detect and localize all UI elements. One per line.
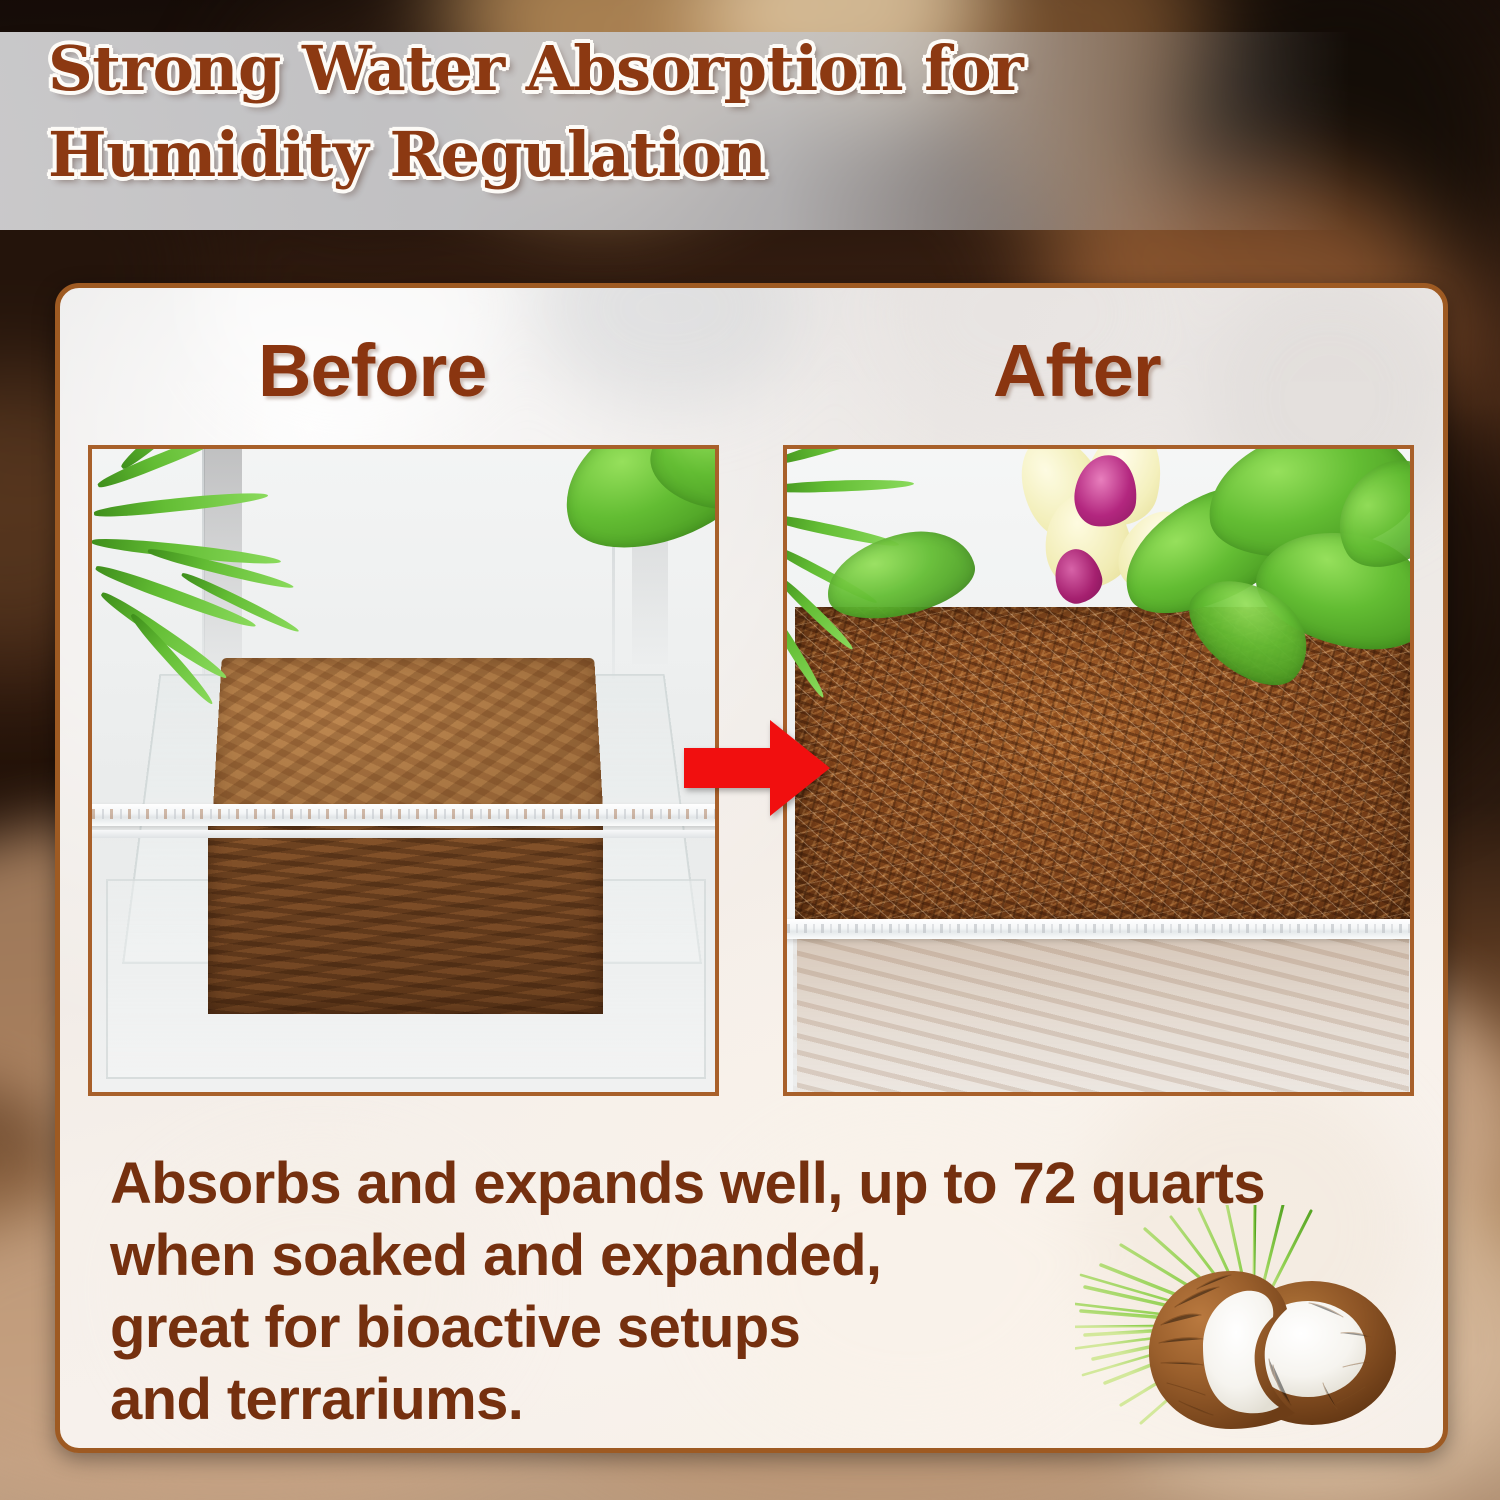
- page-title: Strong Water Absorption for Humidity Reg…: [48, 26, 1388, 198]
- title-banner: Strong Water Absorption for Humidity Reg…: [0, 32, 1500, 230]
- right-arrow-icon: [684, 718, 830, 818]
- before-photo: [88, 445, 719, 1096]
- after-photo: [783, 445, 1414, 1096]
- before-label: Before: [258, 334, 486, 408]
- after-label: After: [993, 334, 1161, 408]
- coconut-icon: [1075, 1205, 1425, 1450]
